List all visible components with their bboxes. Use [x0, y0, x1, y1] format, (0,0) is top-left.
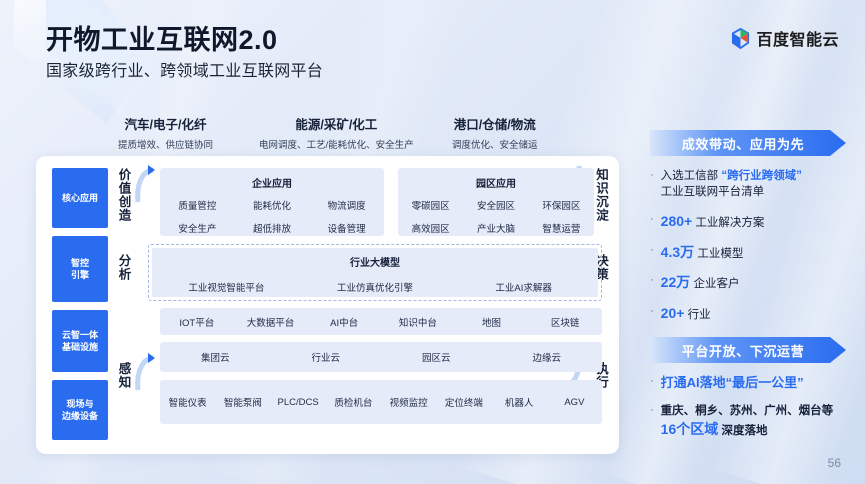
flow-label-sensing: 感知: [116, 362, 130, 389]
industry-sub: 调度优化、安全储运: [452, 137, 538, 151]
bullet-text: 打通AI落地“最后一公里”: [661, 374, 804, 392]
banner-label: 平台开放、下沉运营: [682, 341, 814, 360]
group-item: 能耗优化: [235, 198, 310, 212]
industry-title: 能源/采矿/化工: [259, 114, 414, 133]
panel-banner-openness: 平台开放、下沉运营: [650, 337, 846, 363]
industry-sub: 电网调度、工艺/能耗优化、安全生产: [259, 137, 414, 151]
group-title: 企业应用: [160, 175, 384, 190]
brand-logo: 百度智能云: [731, 26, 839, 50]
group-item: 环保园区: [529, 198, 594, 212]
bullet-dot-icon: ·: [650, 212, 654, 232]
page-number: 56: [828, 456, 841, 470]
group-enterprise-applications: 企业应用 质量管控 能耗优化 物流调度 安全生产 超低排放 设备管理: [160, 168, 384, 236]
bullet-text: 4.3万 工业模型: [661, 243, 744, 263]
flow-label-analysis: 分析: [116, 254, 130, 281]
platform-item: 区块链: [528, 315, 602, 329]
device-item: 机器人: [492, 395, 547, 409]
layer-core-application: 核心应用: [52, 168, 108, 228]
group-item: 安全园区: [463, 198, 528, 212]
curved-arrow-up-icon: [134, 352, 156, 392]
panel-bullets-openness: ·打通AI落地“最后一公里”·重庆、桐乡、苏州、广州、烟台等16个区域 深度落地: [650, 374, 856, 451]
group-item: 高效园区: [398, 221, 463, 235]
industry-column: 港口/仓储/物流 调度优化、安全储运: [452, 114, 538, 151]
bullet-item: ·打通AI落地“最后一公里”: [650, 374, 856, 392]
big-model-items: 工业视觉智能平台 工业仿真优化引擎 工业AI求解器: [152, 280, 598, 294]
bullet-dot-icon: ·: [650, 273, 654, 293]
device-item: AGV: [547, 397, 602, 408]
slide-header: 开物工业互联网2.0 国家级跨行业、跨领域工业互联网平台 百度智能云: [0, 0, 865, 100]
group-park-applications: 园区应用 零碳园区 安全园区 环保园区 高效园区 产业大脑 智慧运营: [398, 168, 594, 236]
bullet-dot-icon: ·: [650, 243, 654, 263]
brand-name: 百度智能云: [756, 26, 839, 50]
platform-item: 地图: [455, 315, 529, 329]
panel-bullets-outcomes: ·入选工信部 “跨行业跨领域”工业互联网平台清单·280+ 工业解决方案·4.3…: [650, 168, 856, 335]
bullet-item: ·22万 企业客户: [650, 273, 856, 293]
middle-platform-row: IOT平台 大数据平台 AI中台 知识中台 地图 区块链: [160, 308, 602, 335]
cloud-item: 园区云: [381, 350, 492, 364]
group-item: 设备管理: [309, 221, 384, 235]
device-item: 质检机台: [326, 395, 381, 409]
bullet-text: 22万 企业客户: [661, 273, 740, 293]
group-item: 超低排放: [235, 221, 310, 235]
platform-item: IOT平台: [160, 315, 234, 329]
device-item: 视频监控: [381, 395, 436, 409]
industry-title: 汽车/电子/化纤: [118, 114, 213, 133]
big-model-item: 工业仿真优化引擎: [301, 280, 450, 294]
big-model-item: 工业AI求解器: [449, 280, 598, 294]
industry-large-model-block: 行业大模型 工业视觉智能平台 工业仿真优化引擎 工业AI求解器: [148, 244, 602, 301]
bullet-text: 280+ 工业解决方案: [661, 212, 765, 232]
big-model-item: 工业视觉智能平台: [152, 280, 301, 294]
device-item: 智能泵阀: [215, 395, 270, 409]
bullet-text: 20+ 行业: [661, 304, 711, 324]
banner-label: 成效带动、应用为先: [682, 134, 814, 153]
group-items: 零碳园区 安全园区 环保园区 高效园区 产业大脑 智慧运营: [398, 198, 594, 235]
bullet-dot-icon: ·: [650, 374, 654, 392]
flow-label-value-creation: 价值创造: [116, 168, 130, 222]
group-item: 零碳园区: [398, 198, 463, 212]
bullet-text: 入选工信部 “跨行业跨领域”工业互联网平台清单: [661, 168, 802, 201]
device-item: 定位终端: [436, 395, 491, 409]
curved-arrow-up-icon: [134, 164, 156, 204]
bullet-dot-icon: ·: [650, 403, 654, 439]
cloud-row: 集团云 行业云 园区云 边缘云: [160, 342, 602, 372]
bullet-item: ·入选工信部 “跨行业跨领域”工业互联网平台清单: [650, 168, 856, 201]
platform-item: 大数据平台: [234, 315, 308, 329]
baidu-cloud-logo-icon: [731, 28, 750, 49]
big-model-title: 行业大模型: [152, 254, 598, 269]
page-title: 开物工业互联网2.0: [46, 18, 278, 57]
layer-edge-devices: 现场与边缘设备: [52, 380, 108, 440]
industry-columns: 汽车/电子/化纤 提质增效、供应链协同 能源/采矿/化工 电网调度、工艺/能耗优…: [0, 114, 620, 158]
group-title: 园区应用: [398, 175, 594, 190]
bullet-item: ·4.3万 工业模型: [650, 243, 856, 263]
industry-column: 汽车/电子/化纤 提质增效、供应链协同: [118, 114, 213, 151]
platform-item: AI中台: [307, 315, 381, 329]
device-item: PLC/DCS: [271, 397, 326, 408]
group-item: 安全生产: [160, 221, 235, 235]
cloud-item: 行业云: [271, 350, 382, 364]
bullet-text: 重庆、桐乡、苏州、广州、烟台等16个区域 深度落地: [661, 403, 834, 439]
industry-column: 能源/采矿/化工 电网调度、工艺/能耗优化、安全生产: [259, 114, 414, 151]
group-item: 产业大脑: [463, 221, 528, 235]
group-item: 质量管控: [160, 198, 235, 212]
bullet-item: ·重庆、桐乡、苏州、广州、烟台等16个区域 深度落地: [650, 403, 856, 439]
layer-control-engine: 智控引擎: [52, 236, 108, 302]
page-subtitle: 国家级跨行业、跨领域工业互联网平台: [46, 57, 323, 81]
flow-label-knowledge: 知识沉淀: [594, 168, 608, 222]
industry-title: 港口/仓储/物流: [452, 114, 538, 133]
architecture-diagram: 核心应用 智控引擎 云智一体基础设施 现场与边缘设备 价值创造 分析 感知 知识…: [36, 156, 619, 454]
panel-banner-outcomes: 成效带动、应用为先: [650, 130, 846, 156]
cloud-item: 集团云: [160, 350, 271, 364]
cloud-item: 边缘云: [492, 350, 603, 364]
layer-cloud-infrastructure: 云智一体基础设施: [52, 310, 108, 372]
group-item: 物流调度: [309, 198, 384, 212]
group-item: 智慧运营: [529, 221, 594, 235]
device-row: 智能仪表 智能泵阀 PLC/DCS 质检机台 视频监控 定位终端 机器人 AGV: [160, 380, 602, 424]
industry-sub: 提质增效、供应链协同: [118, 137, 213, 151]
bullet-item: ·280+ 工业解决方案: [650, 212, 856, 232]
bullet-dot-icon: ·: [650, 304, 654, 324]
bullet-dot-icon: ·: [650, 168, 654, 201]
device-item: 智能仪表: [160, 395, 215, 409]
platform-item: 知识中台: [381, 315, 455, 329]
group-items: 质量管控 能耗优化 物流调度 安全生产 超低排放 设备管理: [160, 198, 384, 235]
bullet-item: ·20+ 行业: [650, 304, 856, 324]
